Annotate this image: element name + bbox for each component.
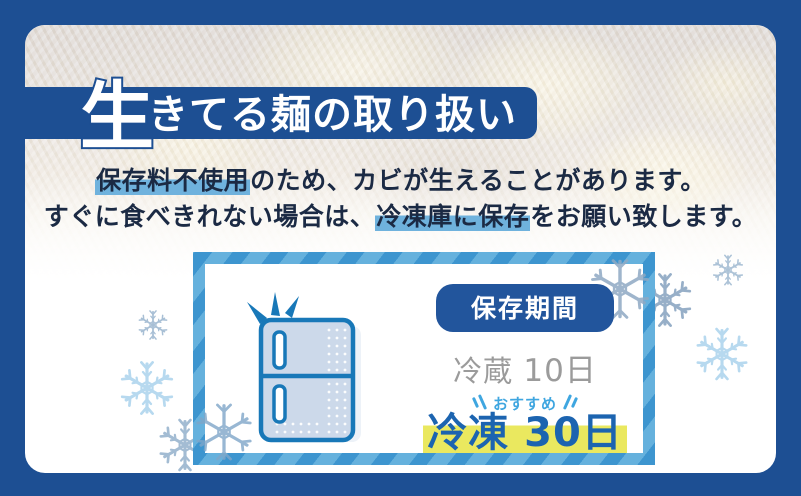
lead-line-2-pre: すぐに食べきれない場合は、: [44, 202, 376, 231]
refrigerator-illustration: [233, 286, 383, 456]
recommend-tag-label: おすすめ: [493, 395, 557, 413]
lead-line-1-highlight: 保存料不使用: [95, 166, 250, 195]
page-title: 生 きてる麺の取り扱い: [80, 58, 521, 142]
recommend-tag: おすすめ: [493, 393, 557, 414]
page-title-initial: 生: [80, 87, 152, 148]
tick-left-inner-icon: [478, 394, 487, 410]
lead-line-1: 保存料不使用のため、カビが生えることがあります。: [25, 163, 776, 199]
storage-row-chilled: 冷蔵 10日: [417, 345, 633, 390]
chilled-value: 10: [523, 353, 564, 389]
frozen-unit: 日: [582, 410, 623, 456]
tick-left-outer-icon: [472, 397, 479, 408]
frozen-value: 30: [524, 410, 582, 456]
recommend-tag-wrap: おすすめ: [417, 393, 633, 413]
lead-line-1-rest: のため、カビが生えることがあります。: [250, 166, 706, 195]
chilled-unit: 日: [565, 353, 597, 389]
page-title-rest: きてる麺の取り扱い: [148, 95, 517, 135]
poster-root: 生 きてる麺の取り扱い 保存料不使用のため、カビが生えることがあります。 すぐに…: [0, 0, 801, 496]
storage-info-column: 保存期間 冷蔵 10日 おすすめ: [417, 284, 633, 454]
chilled-label: 冷蔵: [453, 354, 513, 388]
frozen-highlight: 冷凍 30日: [423, 410, 627, 456]
inner-panel: 生 きてる麺の取り扱い 保存料不使用のため、カビが生えることがあります。 すぐに…: [25, 25, 776, 473]
storage-card: 保存期間 冷蔵 10日 おすすめ: [193, 252, 655, 465]
storage-row-frozen: 冷凍 30日: [417, 412, 633, 454]
storage-card-inner: 保存期間 冷蔵 10日 おすすめ: [205, 264, 643, 453]
storage-period-badge: 保存期間: [436, 284, 614, 332]
tick-right-inner-icon: [563, 394, 572, 410]
lead-line-2-highlight: 冷凍庫に保存: [375, 202, 530, 231]
tick-right-outer-icon: [571, 397, 578, 408]
lead-paragraph: 保存料不使用のため、カビが生えることがあります。 すぐに食べきれない場合は、冷凍…: [25, 163, 776, 236]
lead-line-2-rest: をお願い致します。: [530, 202, 757, 231]
frozen-label: 冷凍: [427, 410, 509, 456]
lead-line-2: すぐに食べきれない場合は、冷凍庫に保存をお願い致します。: [25, 199, 776, 235]
